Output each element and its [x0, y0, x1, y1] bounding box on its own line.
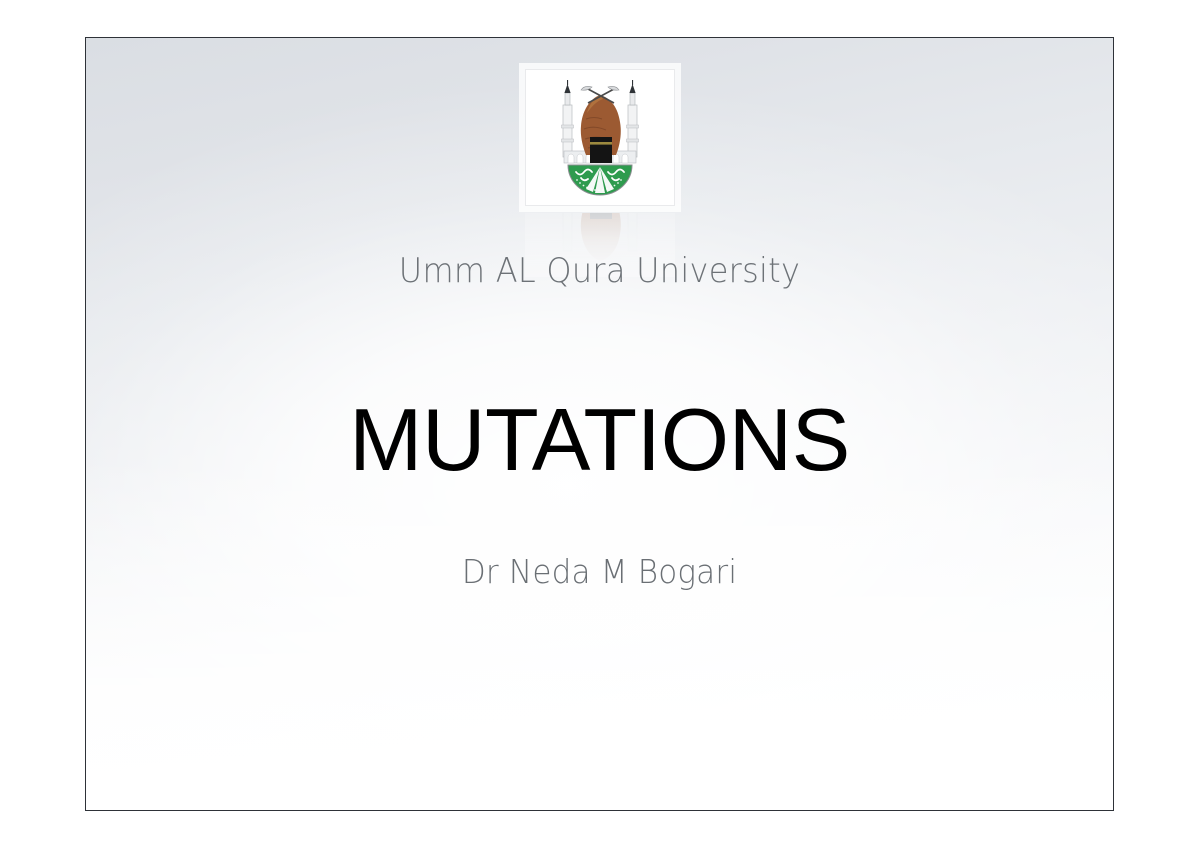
umm-al-qura-university-emblem-icon: [548, 79, 652, 197]
presentation-slide[interactable]: Umm AL Qura University MUTATIONS Dr Neda…: [85, 37, 1114, 811]
slide-content: Umm AL Qura University MUTATIONS Dr Neda…: [86, 38, 1113, 810]
organization-name: Umm AL Qura University: [117, 251, 1082, 291]
logo-block: [86, 69, 1113, 277]
slide-title: MUTATIONS: [86, 396, 1113, 484]
slide-canvas: Umm AL Qura University MUTATIONS Dr Neda…: [0, 0, 1200, 849]
logo-frame: [525, 69, 675, 206]
presenter-name: Dr Neda M Bogari: [117, 552, 1082, 591]
